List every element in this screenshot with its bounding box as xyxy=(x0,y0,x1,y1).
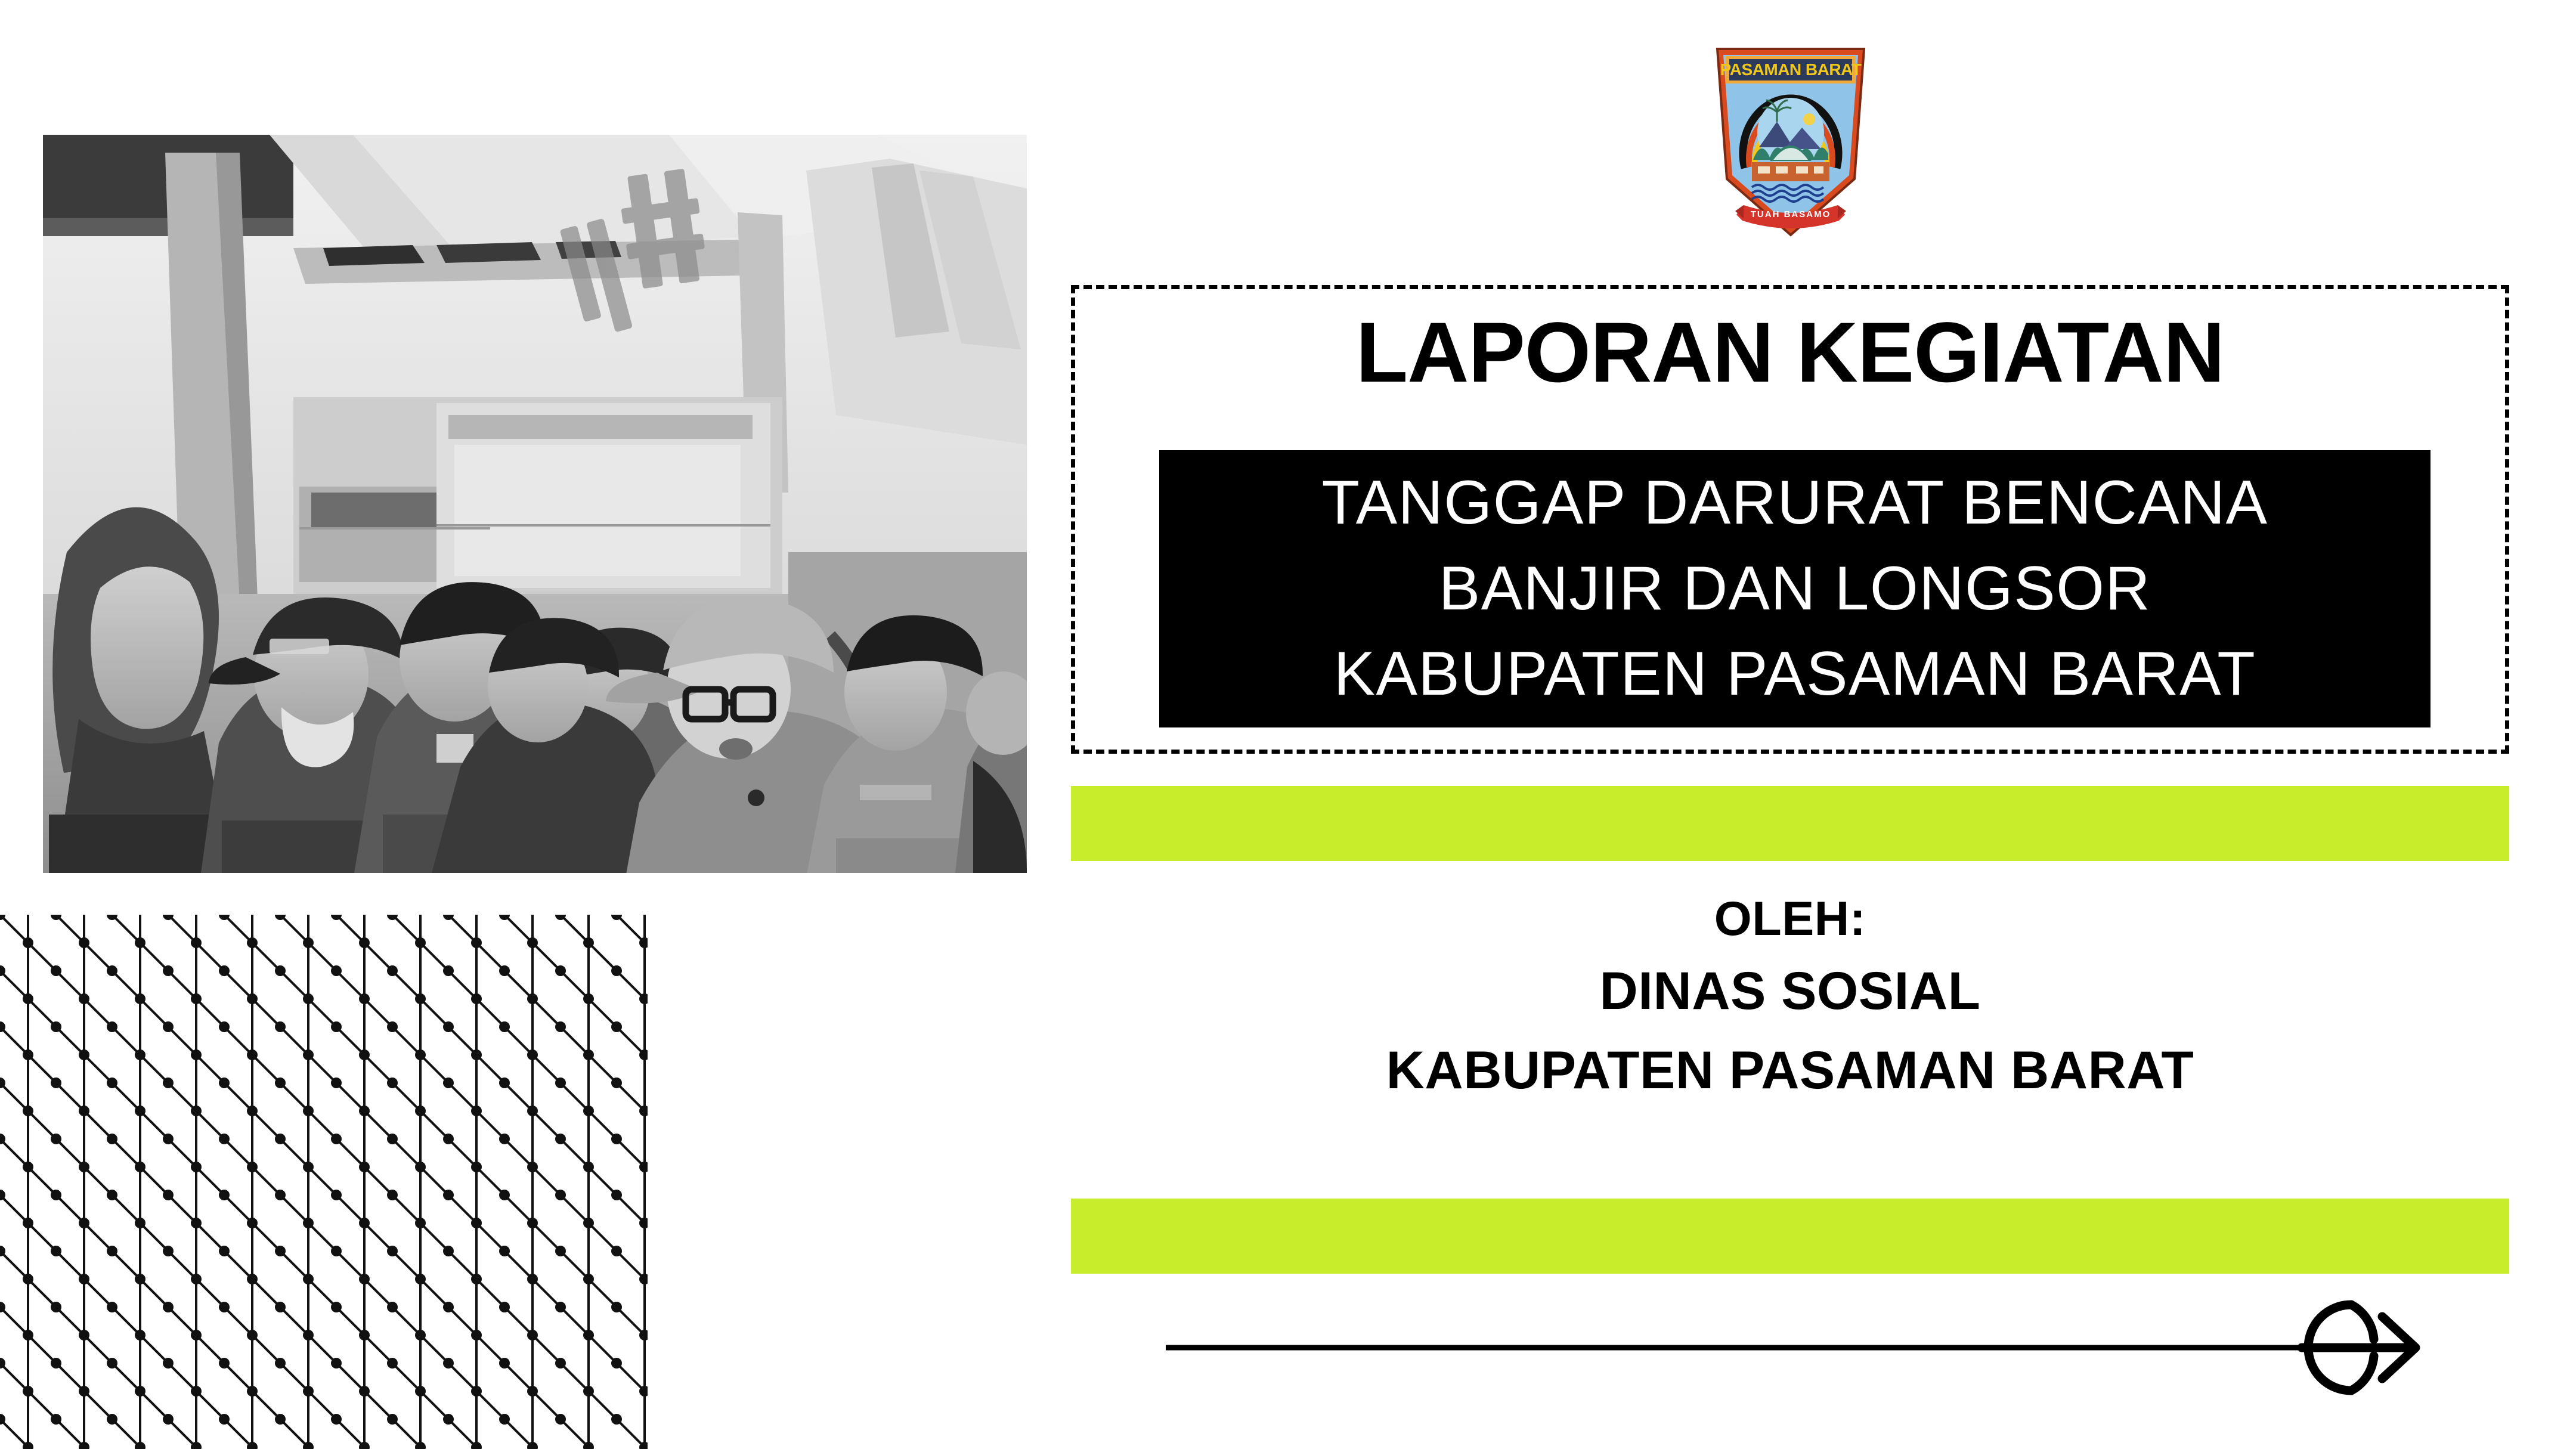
subtitle-line-1: TANGGAP DARURAT BENCANA xyxy=(1321,460,2268,546)
author-organization-line-1: DINAS SOSIAL xyxy=(1071,951,2509,1031)
author-organization-line-2: KABUPATEN PASAMAN BARAT xyxy=(1071,1030,2509,1110)
disaster-response-team-photo xyxy=(43,135,1027,873)
subtitle-box: TANGGAP DARURAT BENCANA BANJIR DAN LONGS… xyxy=(1159,450,2431,727)
logo-banner-text: PASAMAN BARAT xyxy=(1720,60,1862,79)
title-box: LAPORAN KEGIATAN TANGGAP DARURAT BENCANA… xyxy=(1071,285,2509,754)
subtitle-line-3: KABUPATEN PASAMAN BARAT xyxy=(1334,631,2256,717)
page-title: LAPORAN KEGIATAN xyxy=(1075,307,2505,399)
author-label: OLEH: xyxy=(1071,887,2509,951)
diagonal-dot-grid-pattern xyxy=(0,915,648,1449)
subtitle-line-2: BANJIR DAN LONGSOR xyxy=(1439,546,2151,632)
accent-bar-top xyxy=(1071,786,2509,861)
pasaman-barat-coat-of-arms: PASAMAN BARAT xyxy=(1707,43,1875,240)
author-block: OLEH: DINAS SOSIAL KABUPATEN PASAMAN BAR… xyxy=(1071,887,2509,1110)
logo-ribbon-text: TUAH BASAMO xyxy=(1751,209,1831,219)
accent-bar-bottom xyxy=(1071,1199,2509,1274)
circle-arrow-right-icon[interactable] xyxy=(1166,1300,2451,1395)
